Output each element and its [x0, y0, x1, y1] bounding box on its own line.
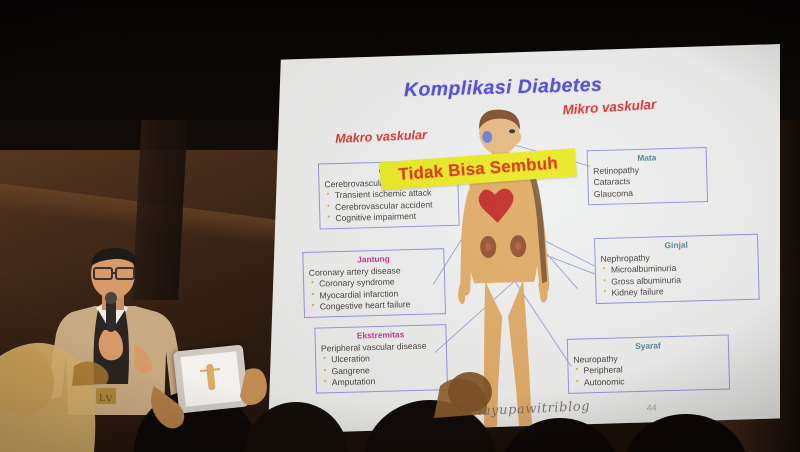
audience	[0, 0, 800, 452]
raised-hand	[72, 361, 109, 386]
audience-head	[502, 418, 618, 452]
hands-holding-tablet	[150, 346, 270, 452]
audience-head	[624, 414, 748, 452]
photo-scene: Komplikasi Diabetes Makro vaskular Mikro…	[0, 0, 800, 452]
